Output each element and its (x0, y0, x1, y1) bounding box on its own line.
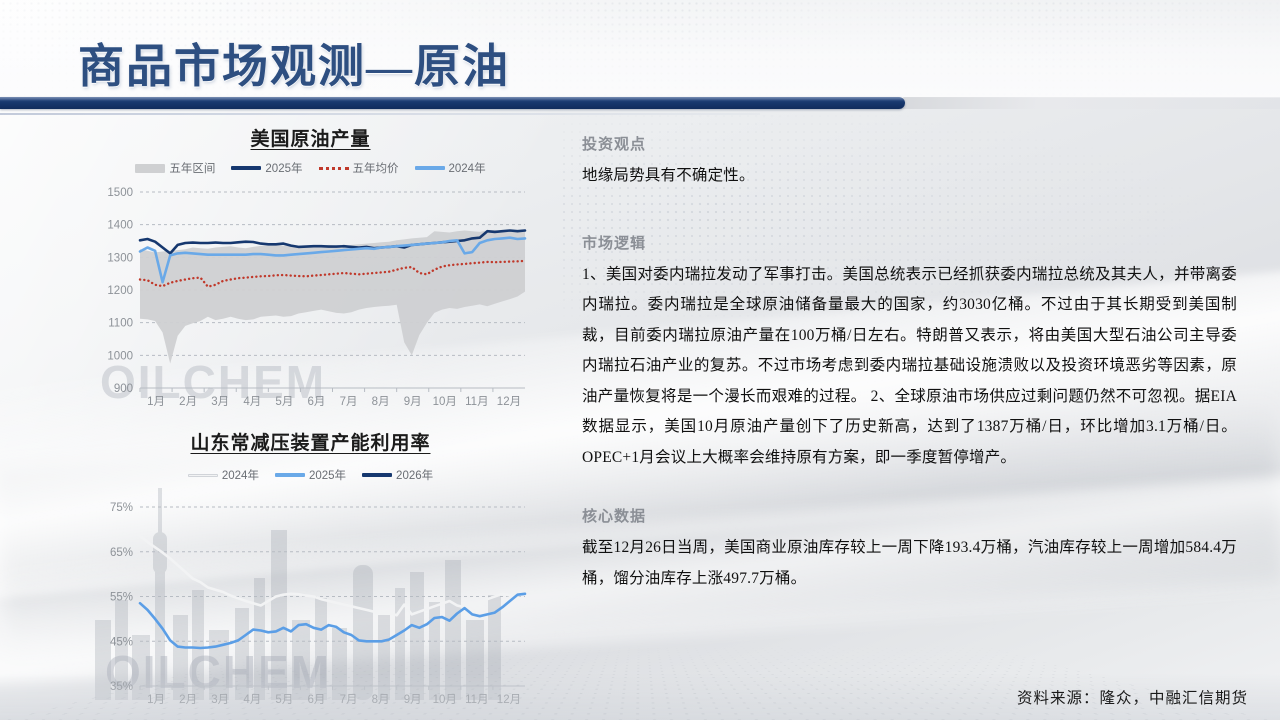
svg-text:6月: 6月 (308, 396, 326, 408)
chart-us-crude-production: 美国原油产量 五年区间 2025年 五年均价 2024年 (88, 124, 533, 414)
legend-item-2025: 2025年 (275, 467, 346, 483)
legend-item-2024: 2024年 (415, 160, 486, 176)
svg-text:55%: 55% (110, 592, 133, 604)
svg-text:65%: 65% (110, 547, 133, 559)
spacer (582, 479, 1237, 505)
legend-swatch-blue-icon (275, 473, 305, 477)
svg-text:5月: 5月 (275, 396, 293, 408)
svg-text:45%: 45% (110, 636, 133, 648)
legend-label: 2025年 (265, 160, 302, 176)
section-body: 截至12月26日当周，美国商业原油库存较上一周下降193.4万桶，汽油库存较上一… (582, 533, 1237, 594)
legend-label: 五年均价 (353, 160, 399, 176)
legend-label: 五年区间 (169, 160, 215, 176)
slide-root: OILCHEM OILCHEM 商品市场观测—原油 美国原油产量 五年区间 20… (0, 0, 1280, 720)
chart-shandong-cdu-utilization: 山东常减压装置产能利用率 2024年 2025年 2026年 35%45%55%… (88, 428, 533, 712)
legend-label: 2024年 (222, 467, 259, 483)
text-panel: 投资观点 地缘局势具有不确定性。 市场逻辑 1、美国对委内瑞拉发动了军事打击。美… (582, 133, 1237, 600)
section-body: 地缘局势具有不确定性。 (582, 161, 1237, 192)
chart-title: 山东常减压装置产能利用率 (88, 428, 533, 455)
svg-text:1000: 1000 (107, 350, 133, 362)
legend-swatch-band-icon (135, 164, 165, 173)
legend-item-2026: 2026年 (362, 467, 433, 483)
legend-item-2025: 2025年 (231, 160, 302, 176)
header-underline (0, 113, 760, 115)
legend-swatch-dotted-red-icon (319, 167, 349, 170)
header-bar-tail (880, 97, 1280, 109)
section-body: 1、美国对委内瑞拉发动了军事打击。美国总统表示已经抓获委内瑞拉总统及其夫人，并带… (582, 260, 1237, 474)
page-title: 商品市场观测—原油 (78, 30, 510, 96)
section-core-data: 核心数据 截至12月26日当周，美国商业原油库存较上一周下降193.4万桶，汽油… (582, 505, 1237, 594)
legend-item-avg: 五年均价 (319, 160, 399, 176)
legend-swatch-navy-icon (231, 166, 261, 170)
legend-label: 2026年 (396, 467, 433, 483)
svg-text:11月: 11月 (465, 396, 488, 408)
svg-text:1400: 1400 (107, 220, 133, 232)
charts-column: 美国原油产量 五年区间 2025年 五年均价 2024年 (88, 124, 533, 709)
svg-text:12月: 12月 (497, 396, 521, 408)
svg-text:1300: 1300 (107, 252, 133, 264)
svg-text:8月: 8月 (372, 396, 390, 408)
section-heading: 市场逻辑 (582, 232, 1237, 253)
header-accent-bar-shine (0, 97, 905, 101)
svg-text:4月: 4月 (243, 396, 261, 408)
svg-text:2月: 2月 (179, 396, 197, 408)
section-heading: 投资观点 (582, 133, 1237, 154)
section-market-logic: 市场逻辑 1、美国对委内瑞拉发动了军事打击。美国总统表示已经抓获委内瑞拉总统及其… (582, 232, 1237, 474)
legend-item-2024: 2024年 (188, 467, 259, 483)
section-heading: 核心数据 (582, 505, 1237, 526)
svg-text:1200: 1200 (107, 285, 133, 297)
svg-text:10月: 10月 (433, 396, 457, 408)
legend-swatch-navy-icon (362, 473, 392, 477)
chart-title: 美国原油产量 (88, 124, 533, 151)
svg-text:1500: 1500 (107, 187, 133, 199)
svg-text:7月: 7月 (340, 396, 358, 408)
chart-plot-area: 9001000110012001300140015001月2月3月4月5月6月7… (88, 182, 533, 414)
svg-text:75%: 75% (110, 502, 133, 514)
chart-legend: 2024年 2025年 2026年 (88, 467, 533, 483)
svg-text:1100: 1100 (108, 318, 133, 330)
legend-swatch-white-icon (188, 474, 218, 477)
spacer (582, 198, 1237, 232)
svg-text:3月: 3月 (211, 396, 229, 408)
chart-legend: 五年区间 2025年 五年均价 2024年 (88, 160, 533, 176)
legend-label: 2024年 (449, 160, 486, 176)
svg-text:9月: 9月 (404, 396, 422, 408)
svg-text:900: 900 (114, 383, 133, 395)
chart-canvas: 9001000110012001300140015001月2月3月4月5月6月7… (88, 182, 533, 414)
svg-text:1月: 1月 (147, 396, 165, 408)
legend-swatch-blue-icon (415, 166, 445, 170)
source-note: 资料来源：隆众，中融汇信期货 (1017, 686, 1248, 708)
section-investment-view: 投资观点 地缘局势具有不确定性。 (582, 133, 1237, 192)
legend-item-band: 五年区间 (135, 160, 215, 176)
legend-label: 2025年 (309, 467, 346, 483)
